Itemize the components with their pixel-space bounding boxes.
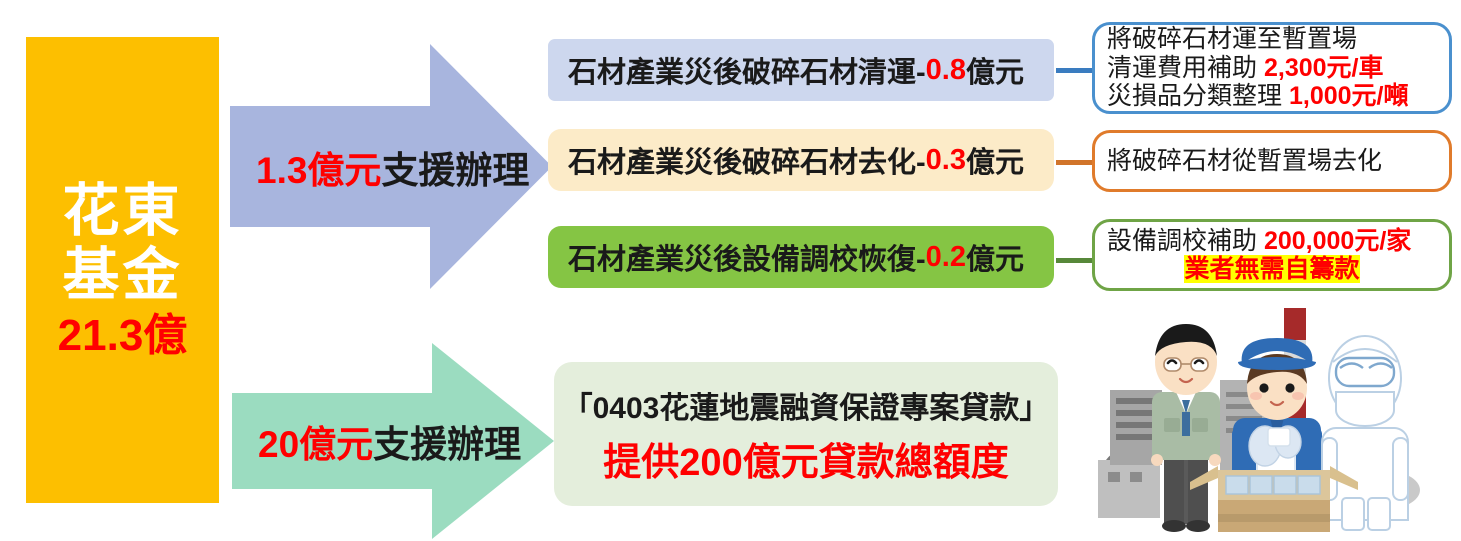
support-arrow-loan-suffix: 支援辦理 [373, 424, 521, 465]
item-bar-stone-removal: 石材產業災後破碎石材清運-0.8億元 [548, 39, 1054, 101]
fund-amount: 21.3億 [58, 312, 188, 360]
callout-stone-removal-line-3: 災損品分類整理 1,000元/噸 [1107, 82, 1437, 111]
callout-equipment-recalibration-line-1-value: 200,000元/家 [1264, 227, 1411, 255]
loan-program-amount: 提供200億元貸款總額度 [603, 431, 1008, 486]
support-arrow-stone-industry-suffix: 支援辦理 [381, 150, 529, 191]
worker-male-icon [1151, 324, 1221, 532]
support-arrow-stone-industry-amount: 1.3億元 [256, 150, 381, 191]
callout-stone-removal-line-3-label: 災損品分類整理 [1107, 82, 1282, 110]
fund-name-line1: 花東 [63, 180, 183, 244]
callout-stone-disposal: 將破碎石材從暫置場去化 [1092, 130, 1452, 192]
callout-stone-removal-line-2-label: 清運費用補助 [1107, 54, 1257, 82]
loan-program-title: 「0403花蓮地震融資保證專案貸款」 [563, 383, 1050, 427]
callout-stone-removal-line-2: 清運費用補助 2,300元/車 [1107, 54, 1437, 83]
item-bar-stone-removal-unit: 億元 [966, 49, 1024, 91]
callout-equipment-recalibration-line-1: 設備調校補助 200,000元/家 [1107, 227, 1437, 256]
support-arrow-stone-industry: 1.3億元支援辦理 [230, 44, 552, 289]
fund-panel: 花東 基金 21.3億 [26, 37, 219, 503]
loan-program-box: 「0403花蓮地震融資保證專案貸款」 提供200億元貸款總額度 [554, 362, 1058, 506]
callout-stone-removal-line-3-value: 1,000元/噸 [1289, 82, 1409, 110]
connector-line-equipment [1056, 258, 1094, 263]
worker-protective-suit-icon [1322, 336, 1408, 530]
callout-stone-removal-line-2-value: 2,300元/車 [1264, 54, 1384, 82]
callout-equipment-recalibration: 設備調校補助 200,000元/家 業者無需自籌款 [1092, 219, 1452, 291]
item-bar-equipment-recalibration-amount: 0.2 [926, 241, 966, 274]
item-bar-stone-disposal-amount: 0.3 [926, 144, 966, 177]
connector-line-disposal [1056, 160, 1094, 165]
item-bar-equipment-recalibration-title: 石材產業災後設備調校恢復- [568, 236, 926, 278]
item-bar-stone-removal-amount: 0.8 [926, 54, 966, 87]
support-arrow-loan-label: 20億元支援辦理 [258, 414, 521, 468]
callout-stone-removal-line-1: 將破碎石材運至暫置場 [1107, 25, 1437, 54]
support-arrow-stone-industry-label: 1.3億元支援辦理 [256, 140, 529, 194]
fund-name-line2: 基金 [63, 244, 183, 308]
item-bar-stone-disposal-unit: 億元 [966, 139, 1024, 181]
support-arrow-loan-amount: 20億元 [258, 424, 373, 465]
item-bar-stone-removal-title: 石材產業災後破碎石材清運- [568, 49, 926, 91]
support-arrow-loan: 20億元支援辦理 [232, 343, 554, 539]
item-bar-stone-disposal: 石材產業災後破碎石材去化-0.3億元 [548, 129, 1054, 191]
factory-workers-illustration [1090, 300, 1460, 541]
callout-equipment-recalibration-line-2: 業者無需自籌款 [1107, 255, 1437, 284]
item-bar-stone-disposal-title: 石材產業災後破碎石材去化- [568, 139, 926, 181]
callout-stone-disposal-line-1: 將破碎石材從暫置場去化 [1107, 147, 1437, 176]
infographic-canvas: 花東 基金 21.3億 1.3億元支援辦理 20億元支援辦理 石材產業災後破碎石… [0, 0, 1461, 541]
callout-stone-removal: 將破碎石材運至暫置場 清運費用補助 2,300元/車 災損品分類整理 1,000… [1092, 22, 1452, 114]
item-bar-equipment-recalibration: 石材產業災後設備調校恢復-0.2億元 [548, 226, 1054, 288]
callout-equipment-recalibration-line-1-label: 設備調校補助 [1107, 227, 1257, 255]
fund-name: 花東 基金 [63, 180, 183, 308]
connector-line-removal [1056, 68, 1094, 73]
item-bar-equipment-recalibration-unit: 億元 [966, 236, 1024, 278]
callout-equipment-recalibration-highlight: 業者無需自籌款 [1184, 255, 1359, 283]
